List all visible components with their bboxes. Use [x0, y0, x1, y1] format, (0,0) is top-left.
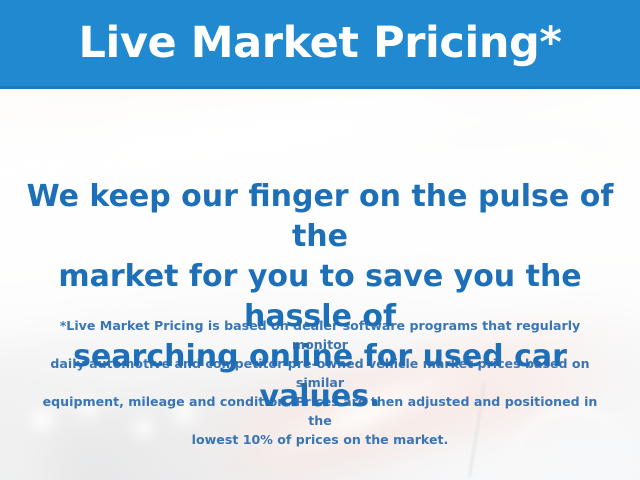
disclaimer-line-2: daily automotive and competitor pre-owne…	[30, 354, 610, 392]
disclaimer-line-1: *Live Market Pricing is based on dealer …	[30, 316, 610, 354]
banner-content: We keep our finger on the pulse of the m…	[0, 92, 640, 480]
disclaimer-line-3: equipment, mileage and condition. Prices…	[30, 392, 610, 430]
live-market-pricing-banner: Live Market Pricing* We keep our finger …	[0, 0, 640, 480]
disclaimer-line-4: lowest 10% of prices on the market.	[30, 430, 610, 449]
header-band: Live Market Pricing*	[0, 0, 640, 89]
headline-line-1: We keep our finger on the pulse of the	[20, 177, 620, 257]
page-title: Live Market Pricing*	[78, 22, 561, 65]
disclaimer-text: *Live Market Pricing is based on dealer …	[30, 316, 610, 449]
